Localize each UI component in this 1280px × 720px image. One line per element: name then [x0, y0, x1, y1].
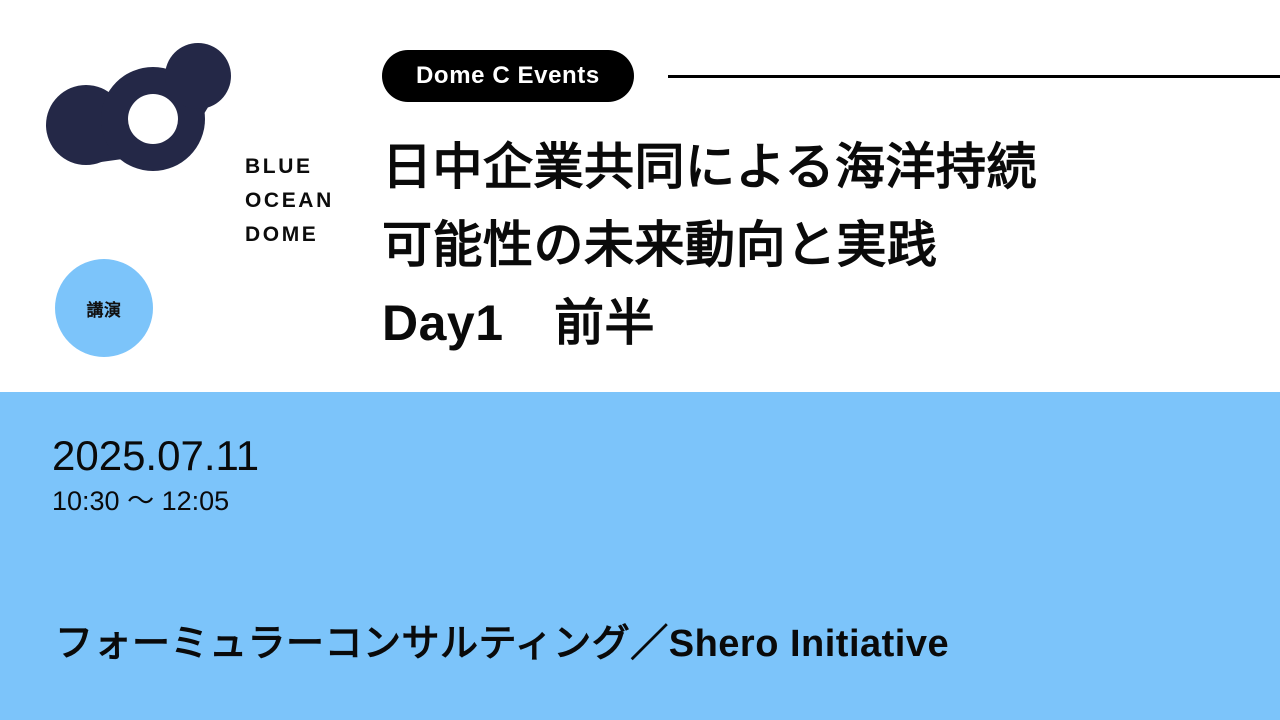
slide-header-section: BLUE OCEAN DOME 講演 Dome C Events 日中企業共同に…	[0, 0, 1280, 392]
session-title: 日中企業共同による海洋持続 可能性の未来動向と実践 Day1 前半	[382, 128, 1262, 362]
event-session-slide: BLUE OCEAN DOME 講演 Dome C Events 日中企業共同に…	[0, 0, 1280, 720]
brand-wordmark-line-2: OCEAN	[245, 184, 395, 218]
blue-ocean-dome-logo-icon	[46, 42, 231, 192]
event-tag-rule	[668, 75, 1280, 78]
session-title-line-3: Day1 前半	[382, 284, 1262, 362]
event-tag-pill: Dome C Events	[382, 50, 634, 102]
schedule-date: 2025.07.11	[52, 432, 259, 480]
category-badge-label: 講演	[87, 296, 122, 321]
event-tag-label: Dome C Events	[416, 62, 600, 90]
speaker-organization: フォーミュラーコンサルティング／Shero Initiative	[55, 620, 949, 668]
schedule-time: 10:30 ～ 12:05	[52, 484, 259, 518]
schedule-block: 2025.07.11 10:30 ～ 12:05	[52, 432, 259, 518]
category-badge: 講演	[55, 259, 153, 357]
brand-wordmark: BLUE OCEAN DOME	[245, 150, 395, 252]
event-tag-row: Dome C Events	[382, 50, 1280, 102]
brand-logo-block: BLUE OCEAN DOME	[46, 42, 346, 207]
session-title-line-2: 可能性の未来動向と実践	[382, 206, 1262, 284]
session-title-line-1: 日中企業共同による海洋持続	[382, 128, 1262, 206]
brand-wordmark-line-3: DOME	[245, 218, 395, 252]
brand-wordmark-line-1: BLUE	[245, 150, 395, 184]
slide-footer-section: 2025.07.11 10:30 ～ 12:05 フォーミュラーコンサルティング…	[0, 392, 1280, 720]
